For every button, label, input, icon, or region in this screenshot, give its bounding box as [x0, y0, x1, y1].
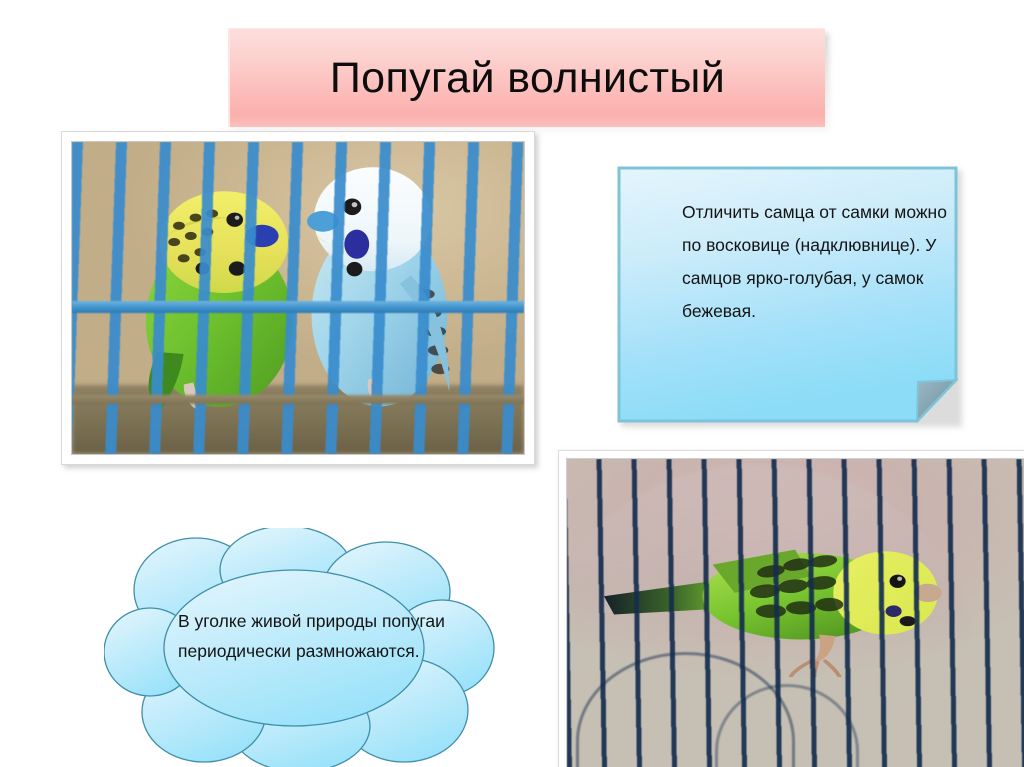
- photo-frame-two-budgerigars: [61, 131, 535, 465]
- photo1-cage-bars: [72, 142, 524, 454]
- photo1-perch: [72, 395, 524, 404]
- cloud-callout-text: В уголке живой природы попугаи периодиче…: [178, 606, 468, 666]
- callout-note-text: Отличить самца от самки можно по воскови…: [682, 196, 954, 328]
- photo1-cage-crossbar: [72, 301, 524, 313]
- photo-green-budgerigar: [566, 458, 1024, 767]
- cloud-callout-breeding: В уголке живой природы попугаи периодиче…: [104, 528, 498, 767]
- page-title: Попугай волнистый: [330, 57, 725, 100]
- callout-note-gender: Отличить самца от самки можно по воскови…: [617, 166, 958, 423]
- photo-two-budgerigars: [71, 141, 525, 455]
- photo-frame-green-budgerigar: [558, 450, 1024, 767]
- title-box: Попугай волнистый: [228, 28, 825, 127]
- presentation-slide: Попугай волнистый: [0, 0, 1024, 767]
- photo2-cage-bars: [567, 459, 1024, 767]
